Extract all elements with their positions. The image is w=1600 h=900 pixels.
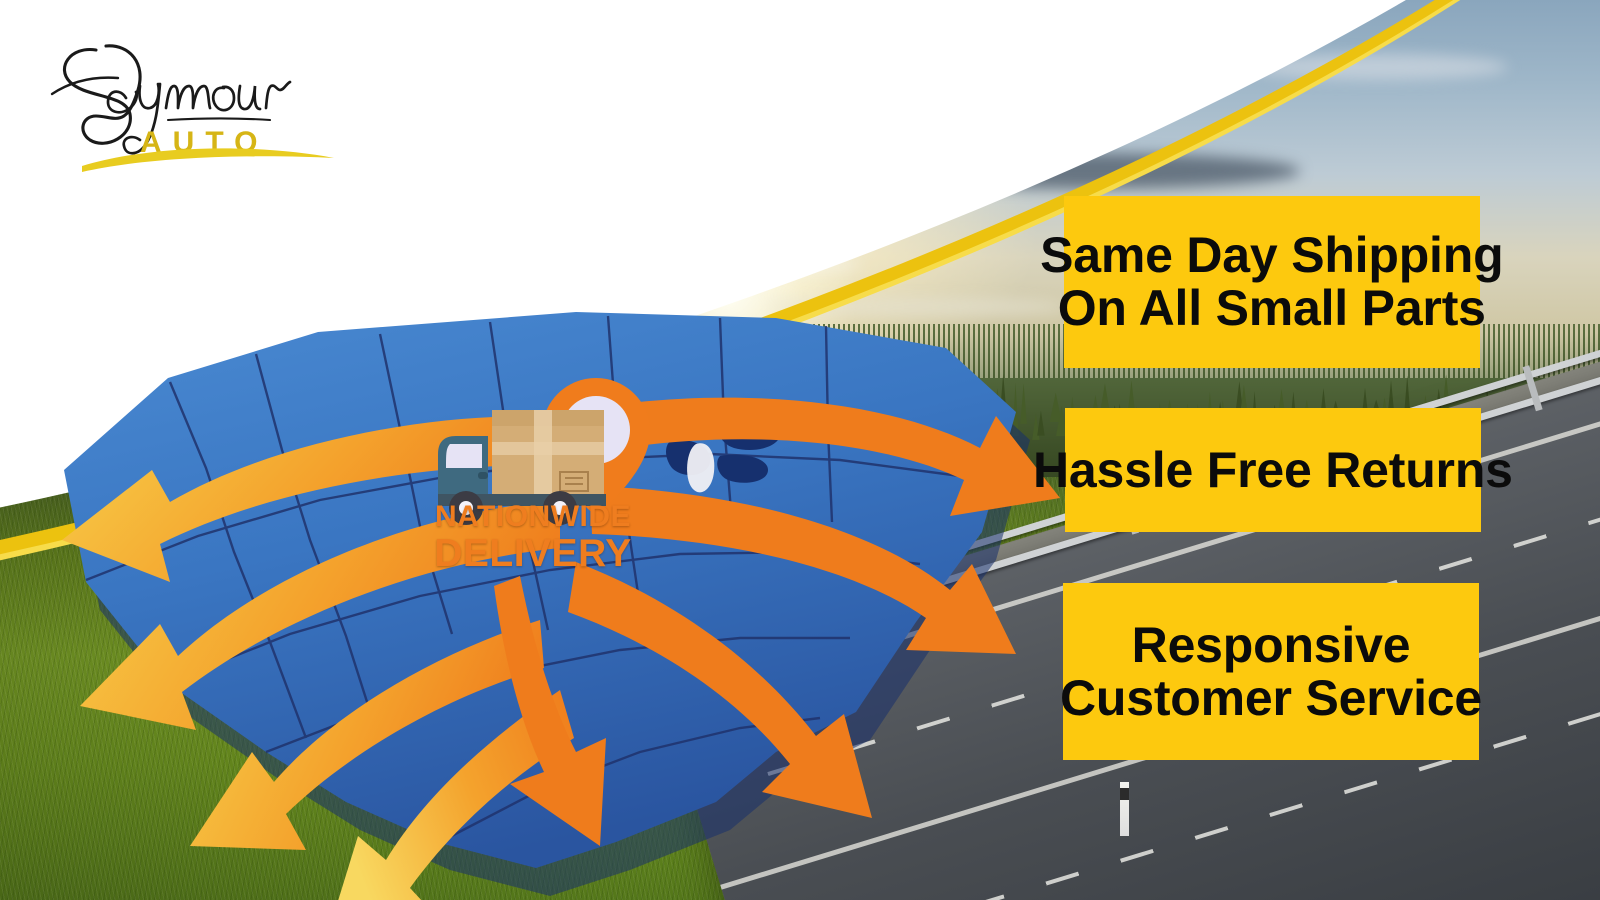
nationwide-delivery-caption: NATIONWIDE DELIVERY xyxy=(418,502,648,573)
caption-line-1: NATIONWIDE xyxy=(418,502,648,532)
feature-banner-same-day-shipping[interactable]: Same Day Shipping On All Small Parts xyxy=(1064,196,1480,368)
feature-banner-hassle-free-returns[interactable]: Hassle Free Returns xyxy=(1065,408,1481,532)
cardboard-box-icon xyxy=(492,410,604,502)
promo-banner-stage: AUTO xyxy=(0,0,1600,900)
feature-banner-responsive-customer-service[interactable]: Responsive Customer Service xyxy=(1063,583,1479,760)
banner-line: On All Small Parts xyxy=(1040,282,1503,335)
caption-line-2: DELIVERY xyxy=(418,534,648,573)
banner-line: Hassle Free Returns xyxy=(1033,444,1513,497)
brand-logo[interactable]: AUTO xyxy=(34,24,354,174)
banner-line: Customer Service xyxy=(1060,672,1482,725)
banner-line: Responsive xyxy=(1060,619,1482,672)
banner-line: Same Day Shipping xyxy=(1040,229,1503,282)
roadside-marker-post xyxy=(1120,782,1129,836)
logo-swoosh xyxy=(82,148,334,172)
